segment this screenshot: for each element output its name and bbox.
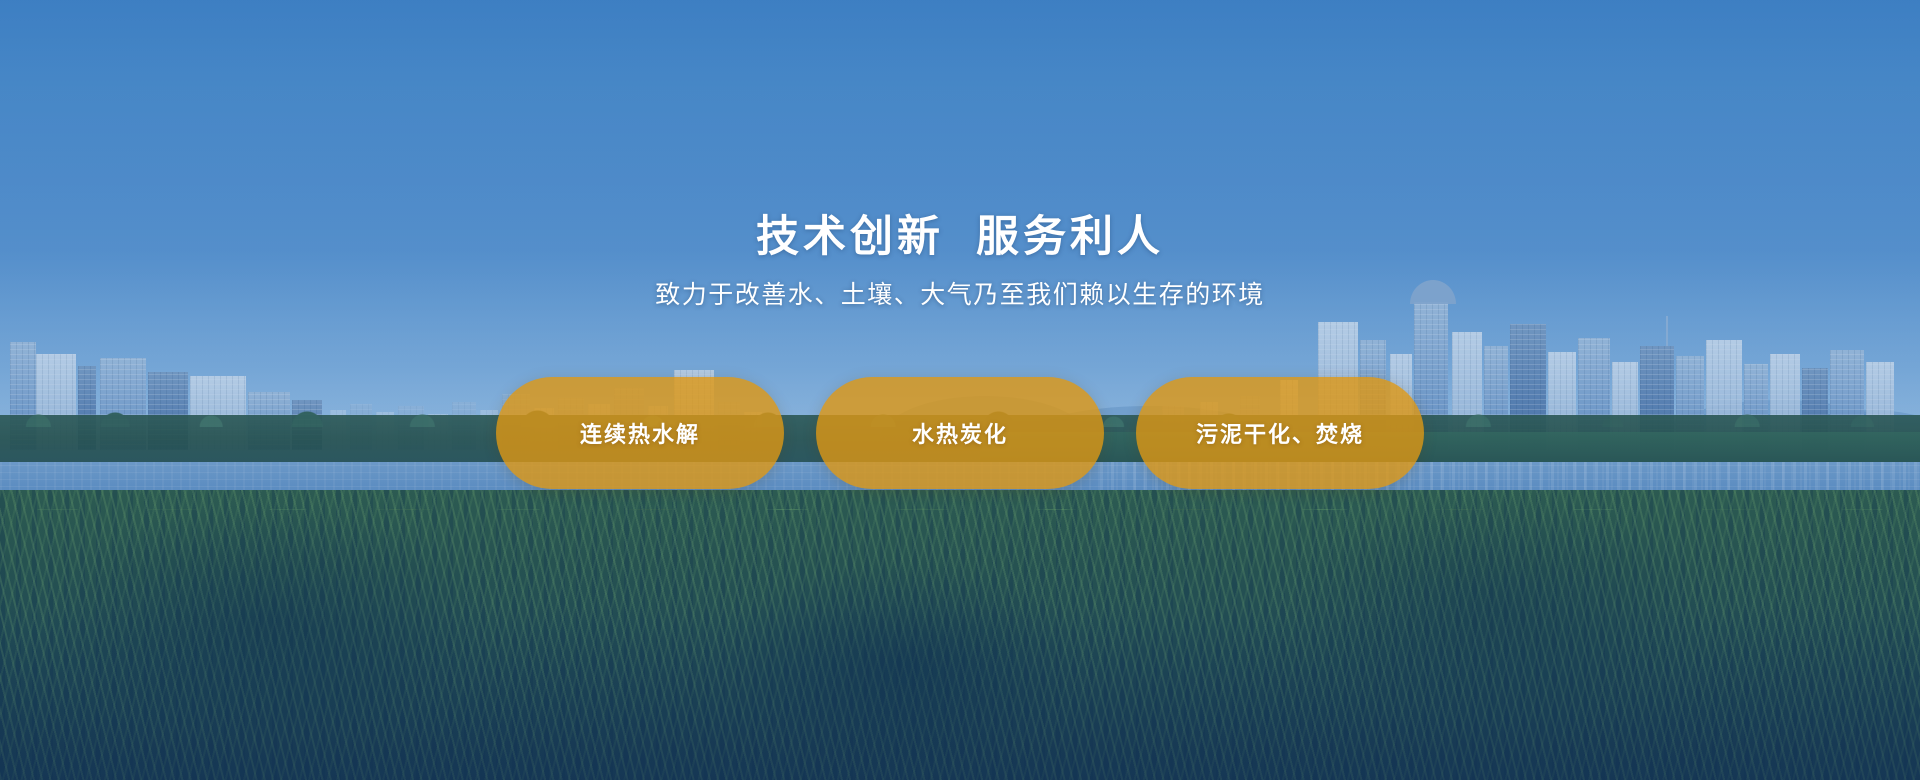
hero-subtitle: 致力于改善水、土壤、大气乃至我们赖以生存的环境	[655, 279, 1265, 312]
category-button-label: 连续热水解	[580, 417, 700, 449]
hero-banner: 技术创新 服务利人 致力于改善水、土壤、大气乃至我们赖以生存的环境 连续热水解 …	[0, 0, 1920, 780]
category-button-label: 水热炭化	[912, 417, 1008, 449]
category-button-row: 连续热水解 水热炭化 污泥干化、焚烧	[496, 377, 1424, 489]
category-button-continuous-thermal-hydrolysis[interactable]: 连续热水解	[496, 377, 784, 489]
category-button-sludge-drying-incineration[interactable]: 污泥干化、焚烧	[1136, 377, 1424, 489]
category-button-hydrothermal-carbonization[interactable]: 水热炭化	[816, 377, 1104, 489]
category-button-label: 污泥干化、焚烧	[1196, 417, 1364, 449]
page-title: 技术创新 服务利人	[756, 212, 1164, 264]
hero-content: 技术创新 服务利人 致力于改善水、土壤、大气乃至我们赖以生存的环境 连续热水解 …	[0, 0, 1920, 780]
